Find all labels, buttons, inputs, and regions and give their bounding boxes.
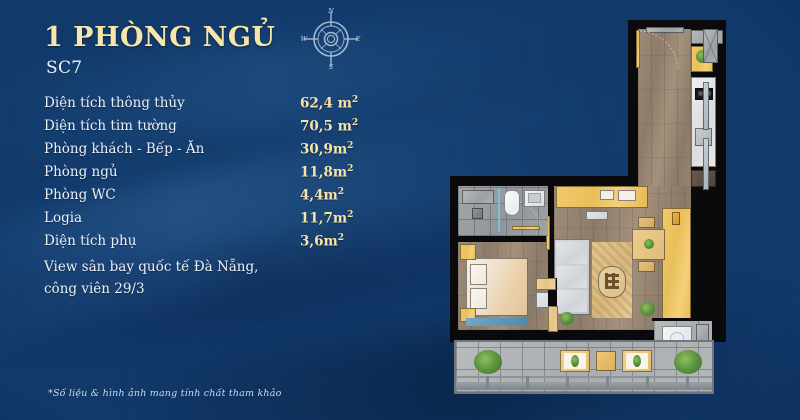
potted-plant-icon: [644, 239, 654, 249]
window-right-lower: [703, 138, 709, 190]
compass-rose-icon: N E S W: [298, 6, 364, 72]
spec-value: 11,8m2: [300, 164, 353, 181]
potted-plant-icon: [560, 312, 574, 325]
coffee-table-items: [605, 273, 619, 289]
bathroom-door-swing-arc: [512, 200, 542, 228]
sofa-cushion: [557, 290, 587, 312]
spec-unit-exponent: 2: [352, 95, 358, 105]
spec-row: Diện tích thông thủy 62,4 m2: [44, 95, 374, 118]
shower-panel: [462, 190, 494, 204]
spec-label: Diện tích phụ: [44, 233, 136, 249]
spec-value: 11,7m2: [300, 210, 353, 227]
spec-row: Phòng WC 4,4m2: [44, 187, 374, 210]
dining-chair: [638, 217, 655, 228]
spec-row: Diện tích phụ 3,6m2: [44, 233, 374, 256]
spec-value: 3,6m2: [300, 233, 344, 250]
spec-unit-exponent: 2: [347, 141, 353, 151]
spec-value: 62,4 m2: [300, 95, 358, 112]
spec-unit-exponent: 2: [352, 118, 358, 128]
dining-zone-floor: [662, 208, 691, 330]
floor-plan: [450, 20, 726, 400]
dining-chair: [638, 261, 655, 272]
spec-unit-exponent: 2: [338, 187, 344, 197]
spec-value: 4,4m2: [300, 187, 344, 204]
spec-label: Diện tích tim tường: [44, 118, 177, 134]
spec-row: Diện tích tim tường 70,5 m2: [44, 118, 374, 141]
compass-label-north: N: [327, 7, 334, 15]
spec-label: Phòng WC: [44, 187, 116, 203]
shower-fixture: [472, 208, 483, 219]
nightstand: [460, 244, 476, 260]
tv-console: [586, 211, 608, 220]
view-note-line: công viên 29/3: [44, 281, 145, 297]
wall-art: [672, 212, 680, 225]
spec-label: Logia: [44, 210, 82, 226]
window-right-upper: [703, 82, 709, 130]
spec-label: Diện tích thông thủy: [44, 95, 185, 111]
unit-code: SC7: [46, 58, 82, 78]
spec-unit-exponent: 2: [347, 164, 353, 174]
disclaimer-footnote: *Số liệu & hình ảnh mang tính chất tham …: [48, 388, 282, 399]
ac-unit-cross: [703, 29, 718, 63]
spec-label: Phòng ngủ: [44, 164, 118, 180]
door-swing-arc: [640, 30, 680, 72]
compass-label-south: S: [329, 63, 334, 71]
spec-table: Diện tích thông thủy 62,4 m2 Diện tích t…: [44, 95, 374, 300]
logia-frame: [454, 340, 714, 394]
spec-label: Phòng khách - Bếp - Ăn: [44, 141, 204, 157]
spec-row: Phòng ngủ 11,8m2: [44, 164, 374, 187]
bed-runner: [466, 318, 528, 326]
view-note-line: View sân bay quốc tế Đà Nẵng,: [44, 259, 258, 275]
sofa-cushion: [557, 242, 587, 264]
view-note-row: View sân bay quốc tế Đà Nẵng,: [44, 256, 374, 278]
wardrobe: [536, 278, 556, 290]
spec-value: 30,9m2: [300, 141, 353, 158]
page-title: 1 PHÒNG NGỦ: [44, 22, 275, 53]
spec-unit-exponent: 2: [338, 233, 344, 243]
floorplan-slide: 1 PHÒNG NGỦ SC7 Diện tích thông thủy 62,…: [0, 0, 800, 420]
bed-pillow: [470, 288, 487, 309]
island-tray: [618, 190, 636, 201]
compass-label-east: E: [355, 35, 361, 43]
sofa-cushion: [557, 266, 587, 288]
spec-row: Logia 11,7m2: [44, 210, 374, 233]
spec-value: 70,5 m2: [300, 118, 358, 135]
wardrobe: [548, 306, 558, 332]
spec-row: Phòng khách - Bếp - Ăn 30,9m2: [44, 141, 374, 164]
spec-unit-exponent: 2: [347, 210, 353, 220]
wall-utility-nook: [652, 318, 714, 321]
island-cooktop: [600, 190, 614, 200]
bed-pillow: [470, 264, 487, 285]
shower-divider: [498, 188, 500, 232]
potted-plant-icon: [640, 302, 655, 316]
view-note-row: công viên 29/3: [44, 278, 374, 300]
